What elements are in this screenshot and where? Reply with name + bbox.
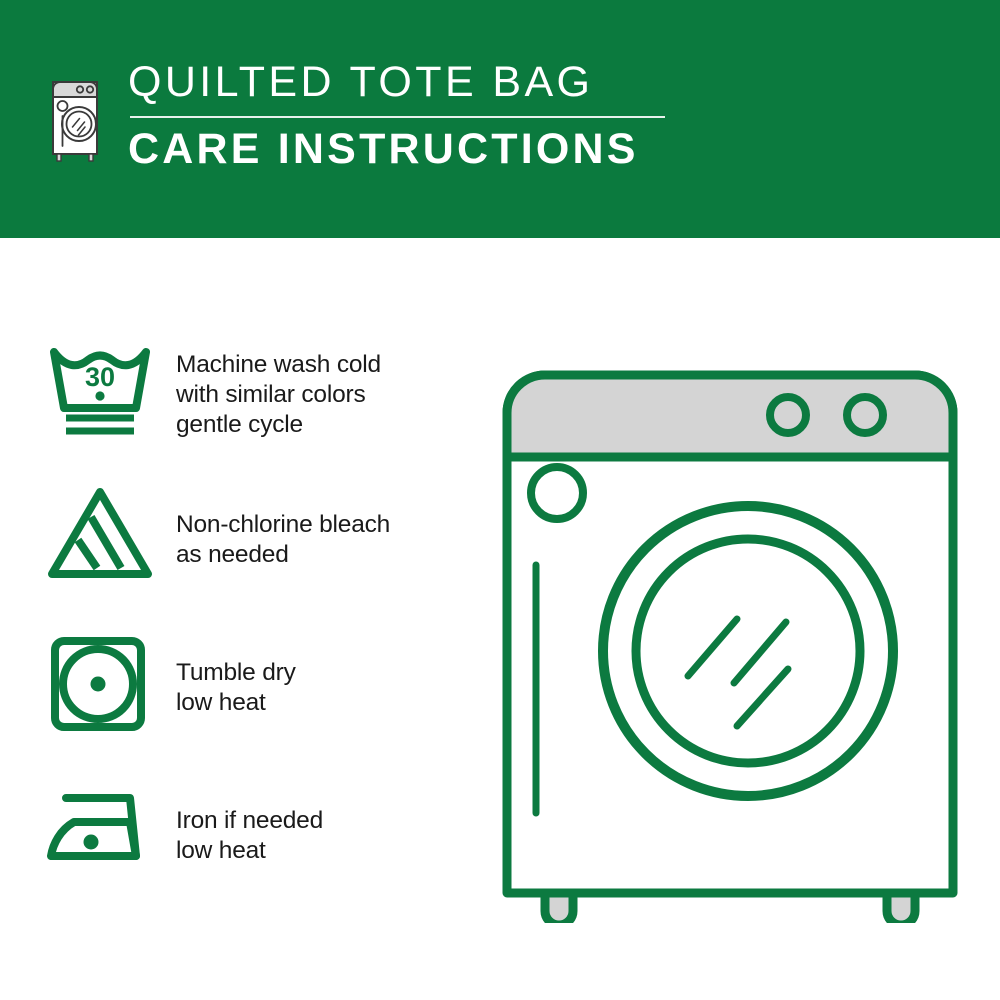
washing-machine-icon (44, 65, 106, 170)
header-content: QUILTED TOTE BAG CARE INSTRUCTIONS (44, 60, 665, 171)
care-item-wash: 30 Machine wash cold with similar colors… (44, 328, 484, 476)
care-text-line: Iron if needed (176, 806, 484, 836)
header-banner: QUILTED TOTE BAG CARE INSTRUCTIONS (0, 0, 1000, 238)
iron-low-heat-icon (44, 772, 170, 882)
leg-left (545, 893, 573, 923)
care-text-line: low heat (176, 688, 484, 718)
product-title: QUILTED TOTE BAG (128, 60, 665, 105)
leg-right (887, 893, 915, 923)
tumble-dry-low-heat-icon (44, 624, 170, 734)
care-item-bleach: Non-chlorine bleach as needed (44, 476, 484, 624)
care-instruction-list: 30 Machine wash cold with similar colors… (44, 328, 484, 920)
care-item-iron-text: Iron if needed low heat (170, 772, 484, 866)
care-text-line: Non-chlorine bleach (176, 510, 484, 540)
care-text-line: with similar colors (176, 380, 484, 410)
non-chlorine-bleach-triangle-icon (44, 476, 170, 586)
wash-tub-30-gentle-icon: 30 (44, 328, 170, 438)
care-text-line: Machine wash cold (176, 350, 484, 380)
care-text-line: as needed (176, 540, 484, 570)
front-load-washing-machine-illustration (485, 333, 975, 923)
care-item-tumble-dry-text: Tumble dry low heat (170, 624, 484, 718)
care-item-wash-text: Machine wash cold with similar colors ge… (170, 328, 484, 440)
title-divider (130, 116, 665, 118)
care-text-line: gentle cycle (176, 410, 484, 440)
content-area: 30 Machine wash cold with similar colors… (0, 238, 1000, 1000)
header-titles: QUILTED TOTE BAG CARE INSTRUCTIONS (128, 60, 665, 171)
care-text-line: low heat (176, 836, 484, 866)
care-text-line: Tumble dry (176, 658, 484, 688)
wash-temperature-label: 30 (85, 362, 115, 392)
care-item-tumble-dry: Tumble dry low heat (44, 624, 484, 772)
page-title: CARE INSTRUCTIONS (128, 127, 665, 172)
care-item-iron: Iron if needed low heat (44, 772, 484, 920)
care-item-bleach-text: Non-chlorine bleach as needed (170, 476, 484, 570)
